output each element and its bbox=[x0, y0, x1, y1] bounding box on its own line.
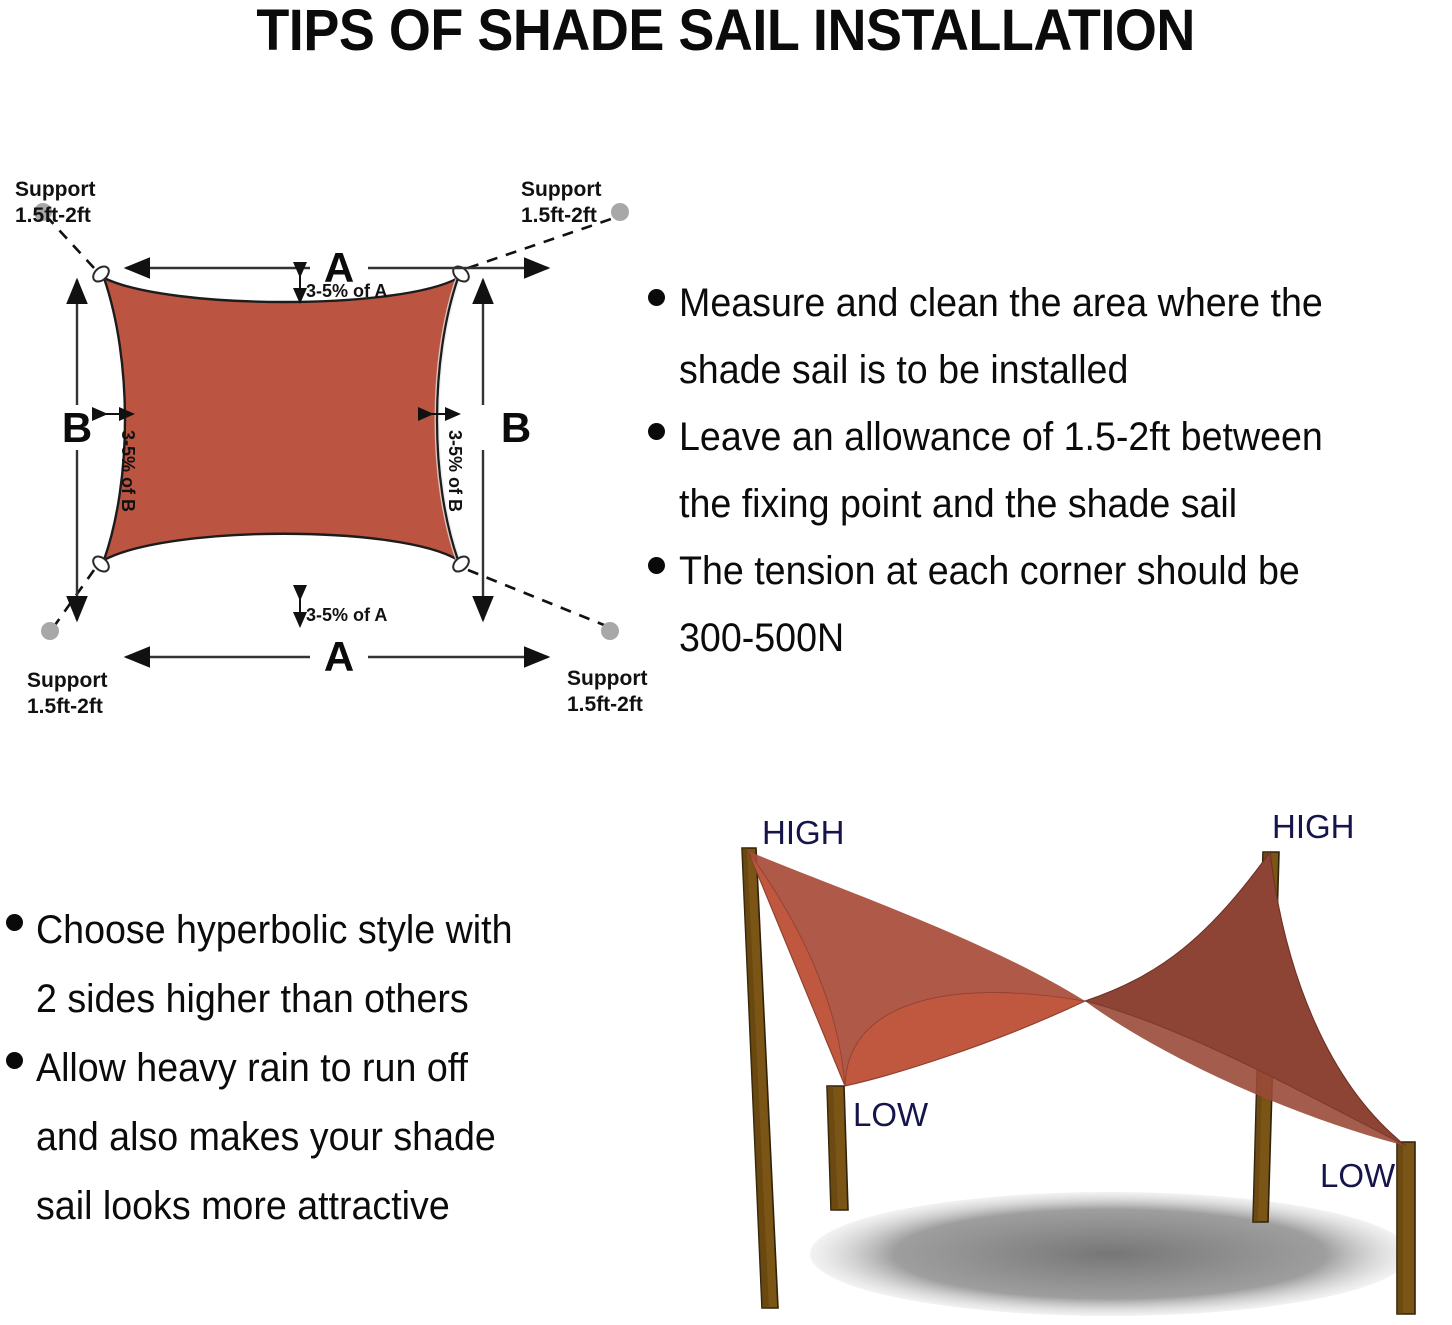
style-tip-line: and also makes your shade bbox=[36, 1105, 496, 1170]
post-high-left bbox=[742, 848, 778, 1308]
style-tip-line: sail looks more attractive bbox=[36, 1174, 450, 1239]
list-item: Allow heavy rain to run off bbox=[6, 1036, 646, 1101]
support-label-bottom-left-value: 1.5ft-2ft bbox=[27, 695, 103, 718]
dimension-label-b-right: B bbox=[501, 404, 531, 451]
sag-label-a-bottom: 3-5% of A bbox=[306, 605, 387, 625]
label-high-right: HIGH bbox=[1272, 808, 1355, 845]
dimension-a-bottom: A bbox=[126, 633, 548, 680]
sag-a-bottom: 3-5% of A bbox=[300, 599, 387, 626]
bullet-spacer bbox=[648, 490, 665, 507]
label-low-right: LOW bbox=[1320, 1157, 1396, 1194]
tip-line: shade sail is to be installed bbox=[679, 339, 1128, 402]
label-high-left: HIGH bbox=[762, 814, 845, 851]
sail-shape bbox=[104, 278, 458, 560]
dimension-label-b-left: B bbox=[62, 404, 92, 451]
support-label-top-right-value: 1.5ft-2ft bbox=[521, 204, 597, 227]
style-tip-line: Choose hyperbolic style with bbox=[36, 898, 513, 963]
sag-label-a-top: 3-5% of A bbox=[306, 281, 387, 301]
style-tip-line: 2 sides higher than others bbox=[36, 967, 469, 1032]
list-item: Choose hyperbolic style with bbox=[6, 898, 646, 963]
list-item-continuation: 2 sides higher than others bbox=[6, 967, 646, 1032]
bullet-dot-icon bbox=[6, 914, 23, 931]
bullet-spacer bbox=[6, 1121, 23, 1138]
list-item: Leave an allowance of 1.5-2ft between bbox=[648, 406, 1452, 469]
hyperbolic-sail-diagram: HIGH HIGH LOW LOW bbox=[690, 786, 1452, 1325]
label-low-left: LOW bbox=[853, 1096, 929, 1133]
support-label-bottom-left-title: Support bbox=[27, 669, 107, 692]
bullet-spacer bbox=[6, 983, 23, 1000]
style-tips-list: Choose hyperbolic style with 2 sides hig… bbox=[6, 898, 646, 1243]
list-item-continuation: shade sail is to be installed bbox=[648, 339, 1452, 402]
bullet-dot-icon bbox=[648, 289, 665, 306]
rectangular-sail-diagram: Support 1.5ft-2ft Support 1.5ft-2ft Supp… bbox=[0, 150, 660, 750]
sail-lobe-right bbox=[1085, 852, 1406, 1146]
style-tip-line: Allow heavy rain to run off bbox=[36, 1036, 468, 1101]
support-label-bottom-right-value: 1.5ft-2ft bbox=[567, 693, 643, 716]
support-label-top-right-title: Support bbox=[521, 178, 601, 201]
page-title: TIPS OF SHADE SAIL INSTALLATION bbox=[257, 2, 1196, 60]
post-low-left bbox=[827, 1086, 848, 1210]
post-low-right bbox=[1397, 1142, 1415, 1314]
dimension-label-a-bottom: A bbox=[324, 633, 354, 680]
list-item-continuation: 300-500N bbox=[648, 607, 1452, 670]
tip-line: 300-500N bbox=[679, 607, 844, 670]
dimension-b-right: B bbox=[483, 280, 531, 620]
list-item: The tension at each corner should be bbox=[648, 540, 1452, 603]
dimension-b-left: B bbox=[62, 280, 92, 620]
tip-line: the fixing point and the shade sail bbox=[679, 473, 1237, 536]
support-label-bottom-right-title: Support bbox=[567, 667, 647, 690]
sag-label-b-right: 3-5% of B bbox=[445, 430, 465, 512]
support-dot-top-right bbox=[611, 203, 629, 221]
bullet-spacer bbox=[6, 1190, 23, 1207]
tip-line: Leave an allowance of 1.5-2ft between bbox=[679, 406, 1323, 469]
list-item-continuation: the fixing point and the shade sail bbox=[648, 473, 1452, 536]
support-dot-bottom-right bbox=[601, 622, 619, 640]
bullet-dot-icon bbox=[648, 423, 665, 440]
support-label-top-left-value: 1.5ft-2ft bbox=[15, 204, 91, 227]
sail-lobe-left bbox=[748, 851, 1085, 1086]
list-item-continuation: and also makes your shade bbox=[6, 1105, 646, 1170]
tip-line: Measure and clean the area where the bbox=[679, 272, 1323, 335]
support-dot-bottom-left bbox=[41, 622, 59, 640]
sag-label-b-left: 3-5% of B bbox=[118, 430, 138, 512]
bullet-spacer bbox=[648, 624, 665, 641]
bullet-dot-icon bbox=[6, 1052, 23, 1069]
support-label-top-left-title: Support bbox=[15, 178, 95, 201]
page-header: TIPS OF SHADE SAIL INSTALLATION bbox=[0, 0, 1452, 62]
list-item-continuation: sail looks more attractive bbox=[6, 1174, 646, 1239]
bullet-dot-icon bbox=[648, 557, 665, 574]
installation-tips-list: Measure and clean the area where the sha… bbox=[648, 272, 1452, 674]
list-item: Measure and clean the area where the bbox=[648, 272, 1452, 335]
bullet-spacer bbox=[648, 356, 665, 373]
tip-line: The tension at each corner should be bbox=[679, 540, 1300, 603]
ground-shadow bbox=[810, 1192, 1410, 1316]
